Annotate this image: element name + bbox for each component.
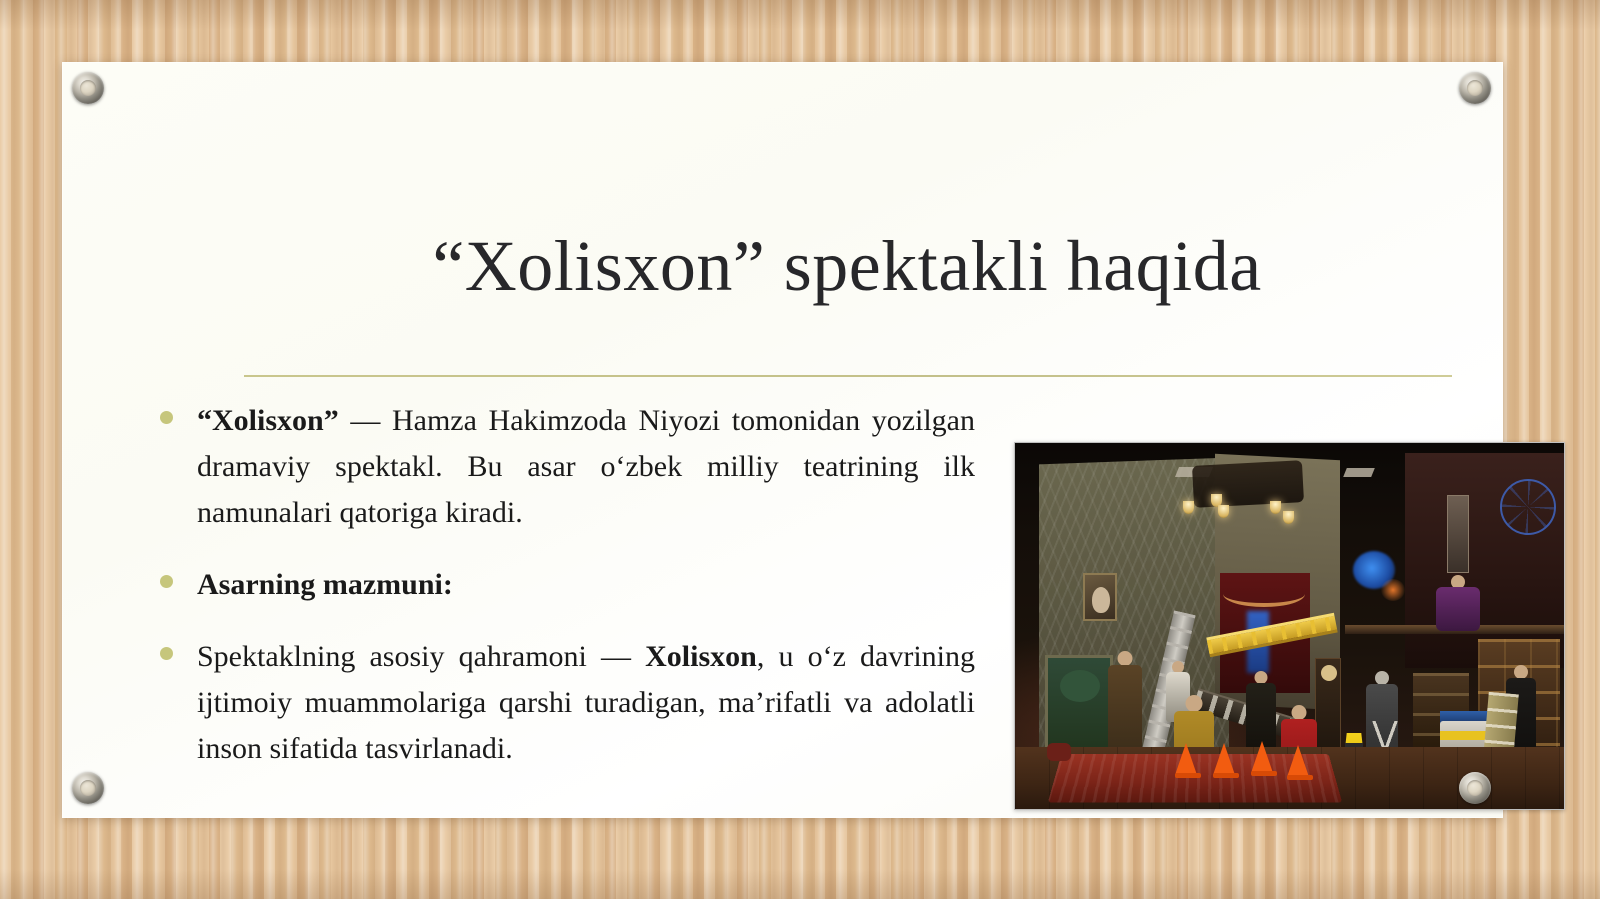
red-drape-prop xyxy=(1223,581,1305,607)
decorative-wheel-prop xyxy=(1500,479,1556,535)
slide-panel: “Xolisxon” spektakli haqida “Xolisxon” —… xyxy=(62,62,1503,818)
traffic-cone xyxy=(1213,743,1235,775)
orange-stage-light xyxy=(1381,579,1405,601)
actor-head xyxy=(1375,671,1389,685)
screw-icon-bottom-right xyxy=(1459,772,1491,804)
bullet-2-text: Asarning mazmuni: xyxy=(197,562,975,608)
wood-bottom-shading xyxy=(0,869,1600,899)
chandelier-prop xyxy=(1192,460,1304,508)
actor-head xyxy=(1514,665,1528,679)
green-door-prop xyxy=(1045,655,1113,750)
ceiling-panel xyxy=(1343,468,1375,477)
actor-head xyxy=(1118,651,1133,666)
framed-portrait-prop xyxy=(1083,573,1117,621)
lamp-icon xyxy=(1218,505,1229,518)
bullet-1-bold-lead: “Xolisxon” xyxy=(197,404,339,437)
spacer xyxy=(157,622,975,634)
actor-body xyxy=(1108,665,1142,759)
lamp-icon xyxy=(1283,511,1294,524)
bullet-2-bold-lead: Asarning mazmuni: xyxy=(197,568,453,601)
lamp-icon xyxy=(1270,501,1281,514)
bullet-list: “Xolisxon” — Hamza Hakimzoda Niyozi tomo… xyxy=(157,398,975,772)
bullet-3-bold-mid: Xolisxon xyxy=(645,640,757,673)
screw-icon-top-left xyxy=(72,72,104,104)
list-item: Asarning mazmuni: xyxy=(157,562,975,608)
list-item: “Xolisxon” — Hamza Hakimzoda Niyozi tomo… xyxy=(157,398,975,536)
screw-icon-bottom-left xyxy=(72,772,104,804)
bullet-3-text: Spektaklning asosiy qahramoni — Xolisxon… xyxy=(197,634,975,772)
actor-on-balcony-purple xyxy=(1435,575,1481,631)
actor-in-brown-coat xyxy=(1107,651,1143,759)
lamp-icon xyxy=(1183,501,1194,514)
bullet-marker-icon xyxy=(160,575,173,588)
actor-in-dark-clothes xyxy=(1245,671,1277,751)
bullet-marker-icon xyxy=(160,411,173,424)
title-underline-divider xyxy=(244,375,1452,377)
list-item: Spektaklning asosiy qahramoni — Xolisxon… xyxy=(157,634,975,772)
bullet-1-text: “Xolisxon” — Hamza Hakimzoda Niyozi tomo… xyxy=(197,398,975,536)
bullet-marker-icon xyxy=(160,647,173,660)
traffic-cone xyxy=(1287,745,1309,777)
traffic-cone xyxy=(1175,743,1197,775)
spacer xyxy=(157,550,975,562)
stage-scene xyxy=(1015,443,1564,809)
actor-head xyxy=(1186,695,1203,712)
actor-body xyxy=(1436,587,1480,631)
page-title: “Xolisxon” spektakli haqida xyxy=(182,230,1512,302)
screw-icon-top-right xyxy=(1459,72,1491,104)
red-bag-prop xyxy=(1047,743,1071,761)
wood-top-shading xyxy=(0,0,1600,30)
traffic-cone xyxy=(1251,741,1273,773)
tall-window-prop xyxy=(1447,495,1469,573)
theatre-stage-photo xyxy=(1014,442,1565,810)
actor-head xyxy=(1292,705,1307,720)
bullet-3-pre: Spektaklning asosiy qahramoni — xyxy=(197,640,645,673)
